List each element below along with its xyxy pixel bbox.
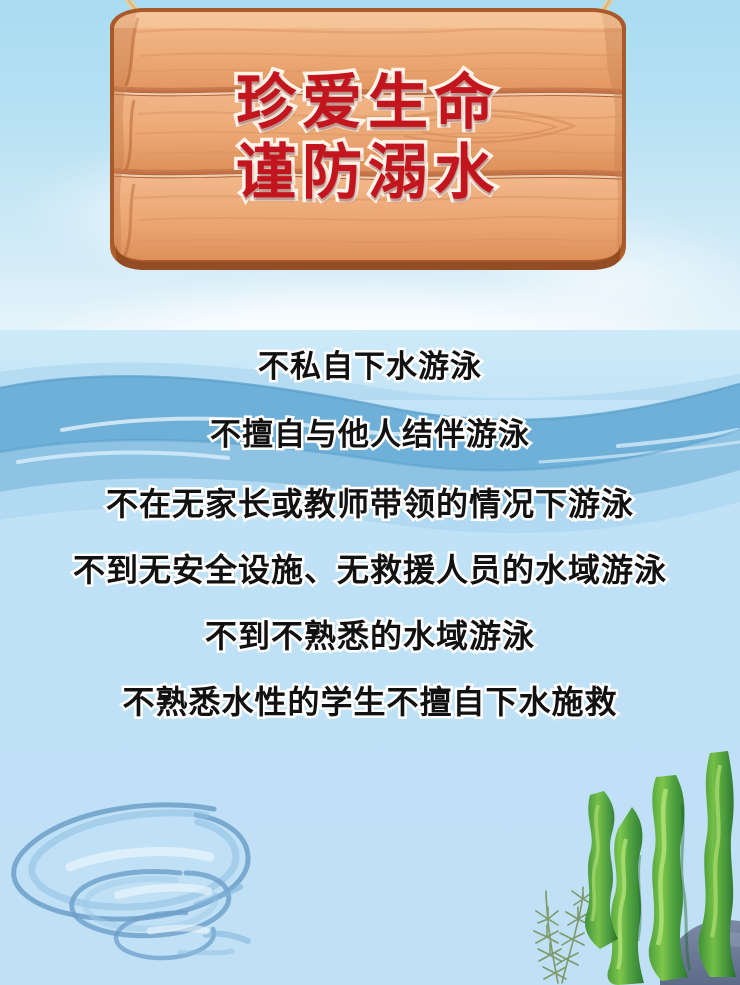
rule-item-1: 不私自下水游泳 [258,352,482,383]
safety-rules-list: 不私自下水游泳 不擅自与他人结伴游泳 不在无家长或教师带领的情况下游泳 不到无安… [0,352,740,718]
poster-canvas: 珍爱生命 谨防溺水 不私自下水游泳 不擅自与他人结伴游泳 不在无家长或教师带领的… [0,0,740,985]
water-ripple-swirl-icon [0,795,380,985]
rule-item-2: 不擅自与他人结伴游泳 [210,420,530,451]
sign-title-block: 珍爱生命 谨防溺水 [104,8,632,270]
sign-title-line-1: 珍爱生命 [236,72,500,136]
wooden-sign-board: 珍爱生命 谨防溺水 [104,8,632,270]
seaweed-cluster [560,745,740,985]
rule-item-3: 不在无家长或教师带领的情况下游泳 [106,488,634,520]
rule-item-5: 不到不熟悉的水域游泳 [205,620,535,652]
sign-title-line-2: 谨防溺水 [236,142,500,206]
rule-item-6: 不熟悉水性的学生不擅自下水施救 [122,686,617,718]
rule-item-4: 不到无安全设施、无救援人员的水域游泳 [73,554,667,586]
